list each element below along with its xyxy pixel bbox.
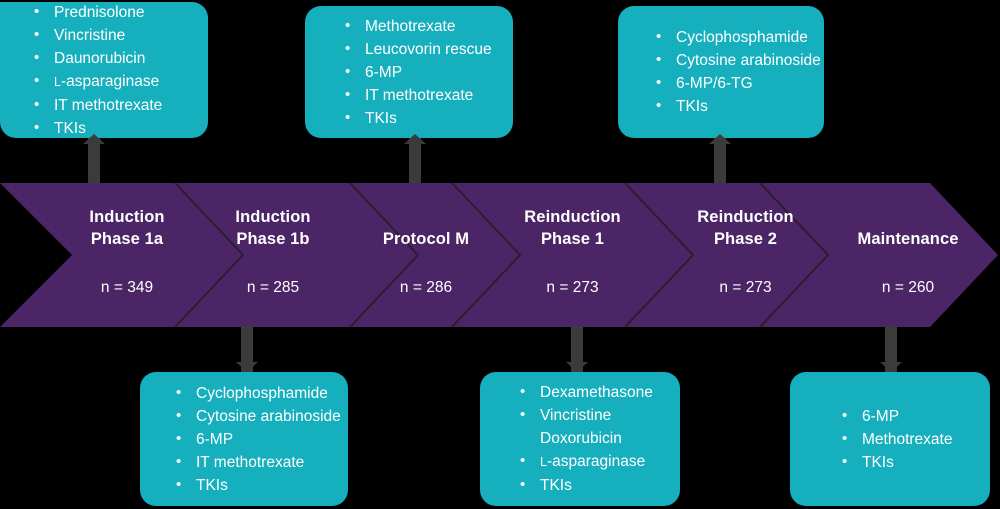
drug-item: L-asparaginase <box>24 70 208 94</box>
drug-item: Vincristine <box>510 404 680 427</box>
drug-box-reinduction-1: DexamethasoneVincristineDoxorubicinL-asp… <box>480 372 680 506</box>
connector-arrow-reinduction-2 <box>709 134 731 144</box>
connector-arrow-induction-1b <box>236 362 258 372</box>
drug-name-prefix: L <box>54 75 61 89</box>
drug-item: Cyclophosphamide <box>646 26 824 49</box>
drug-item: Methotrexate <box>335 15 513 38</box>
drug-list: CyclophosphamideCytosine arabinoside6-MP… <box>140 382 348 497</box>
connector-arrow-induction-1a <box>83 134 105 144</box>
drug-item: Cyclophosphamide <box>166 382 348 405</box>
drug-list: CyclophosphamideCytosine arabinoside6-MP… <box>618 26 824 118</box>
drug-box-induction-1a: PrednisoloneVincristineDaunorubicinL-asp… <box>0 2 208 138</box>
drug-item: Daunorubicin <box>24 47 208 70</box>
drug-item: Cytosine arabinoside <box>166 405 348 428</box>
connector-induction-1a <box>88 138 100 184</box>
drug-list: 6-MPMethotrexateTKIs <box>790 405 990 474</box>
drug-item: TKIs <box>646 95 824 118</box>
drug-item: 6-MP <box>166 428 348 451</box>
drug-item: Cytosine arabinoside <box>646 49 824 72</box>
drug-item: 6-MP/6-TG <box>646 72 824 95</box>
drug-item: TKIs <box>832 451 990 474</box>
drug-item: Doxorubicin <box>510 427 680 450</box>
banner-shape <box>0 183 998 327</box>
drug-item: Methotrexate <box>832 428 990 451</box>
drug-item: TKIs <box>166 474 348 497</box>
drug-item: TKIs <box>24 117 208 140</box>
connector-protocol-m <box>409 138 421 184</box>
connector-arrow-reinduction-1 <box>566 362 588 372</box>
drug-item: 6-MP <box>832 405 990 428</box>
drug-item: Vincristine <box>24 24 208 47</box>
drug-item: TKIs <box>510 474 680 497</box>
connector-arrow-maintenance <box>880 362 902 372</box>
connector-reinduction-2 <box>714 138 726 184</box>
drug-item: IT methotrexate <box>335 84 513 107</box>
drug-list: DexamethasoneVincristineDoxorubicinL-asp… <box>480 381 680 497</box>
drug-box-induction-1b: CyclophosphamideCytosine arabinoside6-MP… <box>140 372 348 506</box>
drug-name-prefix: L <box>540 455 547 469</box>
diagram-canvas: PrednisoloneVincristineDaunorubicinL-asp… <box>0 0 1000 509</box>
drug-item: L-asparaginase <box>510 450 680 474</box>
drug-item: Leucovorin rescue <box>335 38 513 61</box>
connector-arrow-protocol-m <box>404 134 426 144</box>
drug-box-protocol-m: MethotrexateLeucovorin rescue6-MPIT meth… <box>305 6 513 138</box>
drug-box-reinduction-2: CyclophosphamideCytosine arabinoside6-MP… <box>618 6 824 138</box>
drug-item: TKIs <box>335 107 513 130</box>
drug-box-maintenance: 6-MPMethotrexateTKIs <box>790 372 990 506</box>
phase-banner <box>0 183 1000 327</box>
drug-item: IT methotrexate <box>24 94 208 117</box>
drug-item: 6-MP <box>335 61 513 84</box>
drug-item: IT methotrexate <box>166 451 348 474</box>
drug-item: Dexamethasone <box>510 381 680 404</box>
drug-list: PrednisoloneVincristineDaunorubicinL-asp… <box>0 1 208 140</box>
drug-item: Prednisolone <box>24 1 208 24</box>
drug-list: MethotrexateLeucovorin rescue6-MPIT meth… <box>305 15 513 130</box>
